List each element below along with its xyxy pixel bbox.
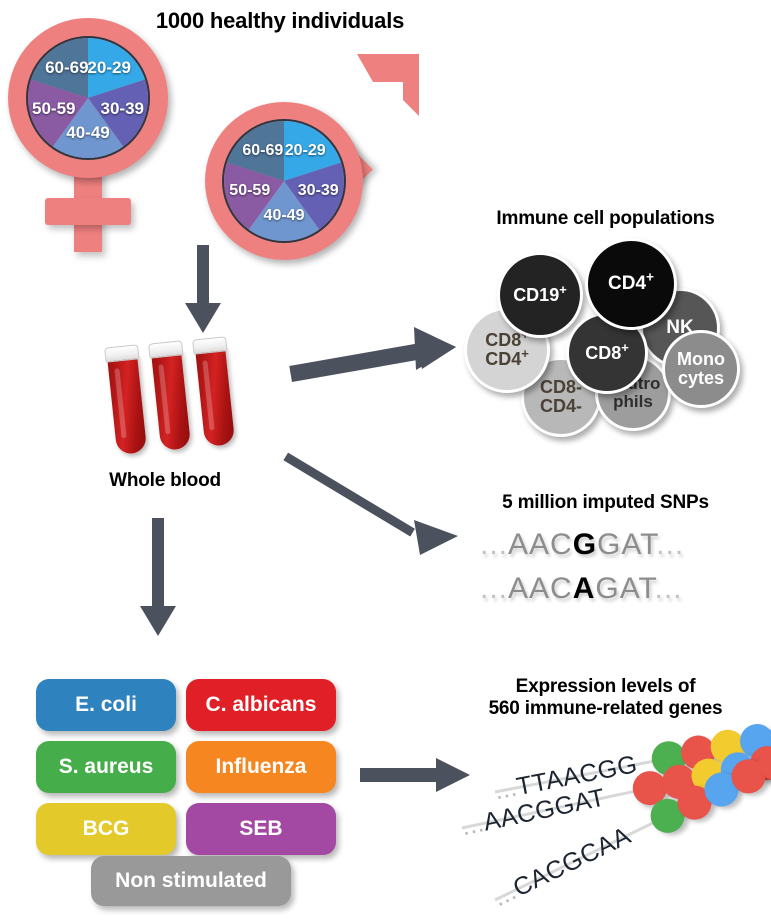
figure-canvas: 1000 healthy individuals 20-2930-3940-49…: [0, 0, 771, 922]
immune-cell-label: CD8+CD4+: [485, 331, 529, 368]
immune-cell-label: Monocytes: [677, 350, 725, 387]
immune-cell-cd19[interactable]: CD19+: [497, 252, 583, 338]
immune-cell-label: CD8-CD4-: [540, 378, 582, 415]
immune-cell-label: CD19+: [513, 286, 567, 305]
immune-cell-label: CD4+: [608, 274, 654, 294]
strand-lead-ellipsis: ...: [459, 809, 487, 841]
strand-lead-ellipsis: ...: [489, 877, 521, 912]
immune-cell-cd4[interactable]: CD4+: [585, 238, 677, 330]
immune-cell-monocytes[interactable]: Monocytes: [662, 330, 740, 408]
immune-cell-label: CD8+: [585, 344, 629, 363]
expression-strands-group: ...TTAACGG...AACGGAT...CACGCAA: [0, 0, 771, 922]
